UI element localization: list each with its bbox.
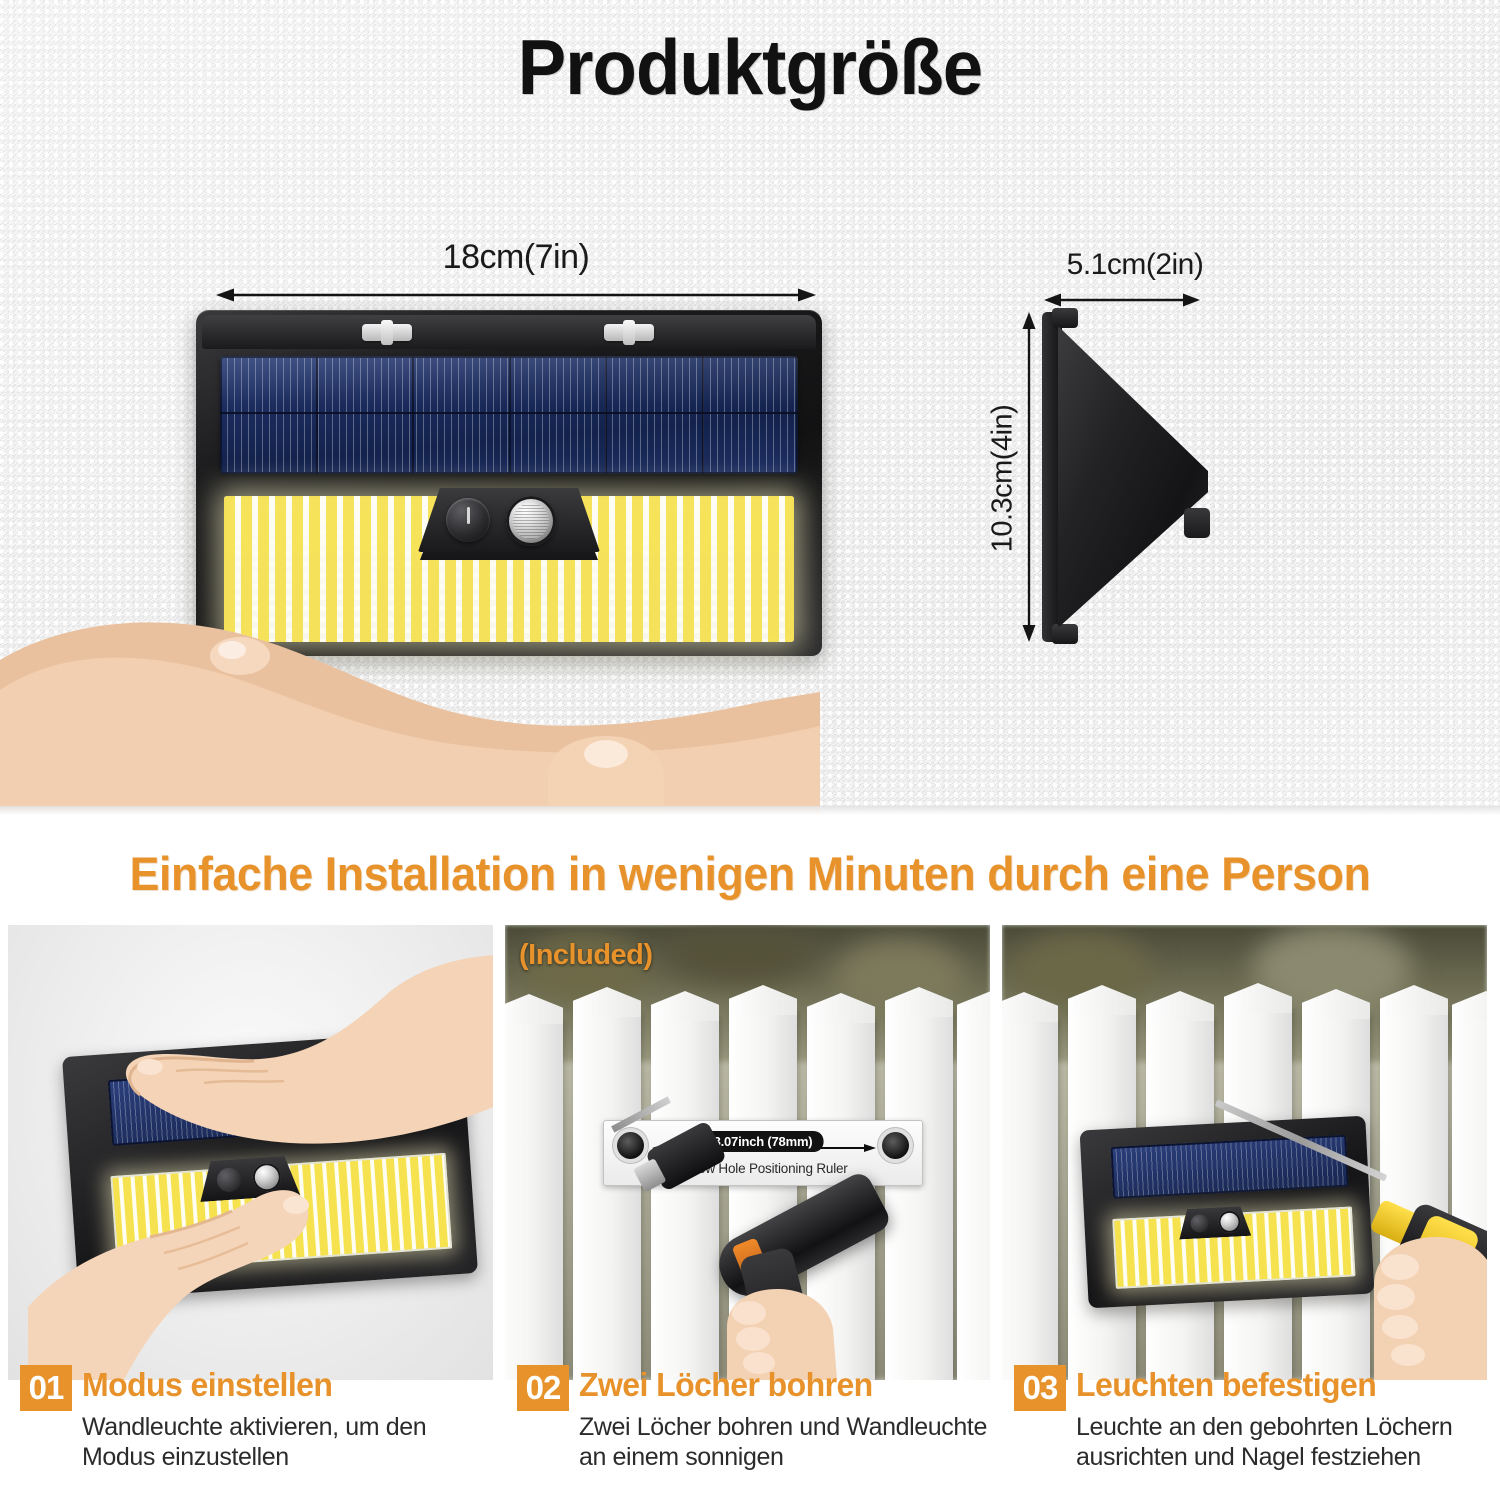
step-title-01: Modus einstellen [82, 1366, 470, 1404]
hand-lower [28, 1157, 328, 1380]
step-title-03: Leuchten befestigen [1076, 1366, 1464, 1404]
mode-button-icon [446, 498, 490, 542]
hand-upper [78, 955, 493, 1185]
step-card-03: 03 Leuchten befestigen Leuchte an den ge… [1002, 925, 1487, 1380]
step-number-badge-01: 01 [20, 1365, 72, 1411]
installation-headline: Einfache Installation in wenigen Minuten… [38, 846, 1463, 901]
step-number-badge-03: 03 [1014, 1365, 1066, 1411]
depth-dimension-arrow-icon [1044, 292, 1200, 308]
lamp-wedge-profile [1058, 326, 1208, 628]
step-description-01: Wandleuchte aktivieren, um den Modus ein… [82, 1413, 490, 1472]
depth-dimension-label: 5.1cm(2in) [1030, 248, 1240, 282]
installation-steps: 01 Modus einstellen Wandleuchte aktivier… [0, 925, 1500, 1495]
hand-holding-screwdriver [1344, 1211, 1487, 1380]
height-dimension-arrow-icon [1021, 312, 1037, 642]
product-side-view [1042, 312, 1212, 642]
step-card-01: 01 Modus einstellen Wandleuchte aktivier… [8, 925, 493, 1380]
hand-holding-drill [701, 1255, 921, 1380]
mini-lamp-03 [1080, 1116, 1375, 1309]
motion-sensor-icon [506, 496, 556, 546]
page-title: Produktgröße [53, 22, 1448, 113]
installation-section: Einfache Installation in wenigen Minuten… [0, 818, 1500, 1495]
step-title-02: Zwei Löcher bohren [579, 1366, 967, 1404]
side-tab-bottom [1052, 624, 1078, 644]
width-dimension-label: 18cm(7in) [216, 238, 816, 277]
width-dimension-arrow-icon [216, 287, 816, 303]
step-photo-01 [8, 925, 493, 1380]
product-size-section: Produktgröße 18cm(7in) 5.1cm(2in) 10.3cm… [0, 0, 1500, 818]
step-number-badge-02: 02 [517, 1365, 569, 1411]
ruler-hole-right-icon [882, 1132, 909, 1159]
mounting-screw-tab-left [362, 324, 412, 341]
step-description-02: Zwei Löcher bohren und Wandleuchte an ei… [579, 1413, 987, 1472]
included-label: (Included) [519, 939, 653, 972]
holding-hand [0, 540, 830, 820]
side-tab-top [1052, 308, 1078, 328]
height-dimension-label: 10.3cm(4in) [987, 364, 1020, 594]
step-photo-02: (Included) 3.07inch (78mm) Screw Hole Po… [505, 925, 990, 1380]
lamp-top-rail [202, 315, 816, 349]
step-card-02: (Included) 3.07inch (78mm) Screw Hole Po… [505, 925, 990, 1380]
mounting-screw-tab-right [604, 324, 654, 341]
ruler-hole-left-icon [617, 1132, 644, 1159]
step-photo-03 [1002, 925, 1487, 1380]
solar-panel [220, 356, 798, 474]
step-description-03: Leuchte an den gebohrten Löchern ausrich… [1076, 1413, 1484, 1472]
lamp-side-nub [1184, 508, 1210, 538]
